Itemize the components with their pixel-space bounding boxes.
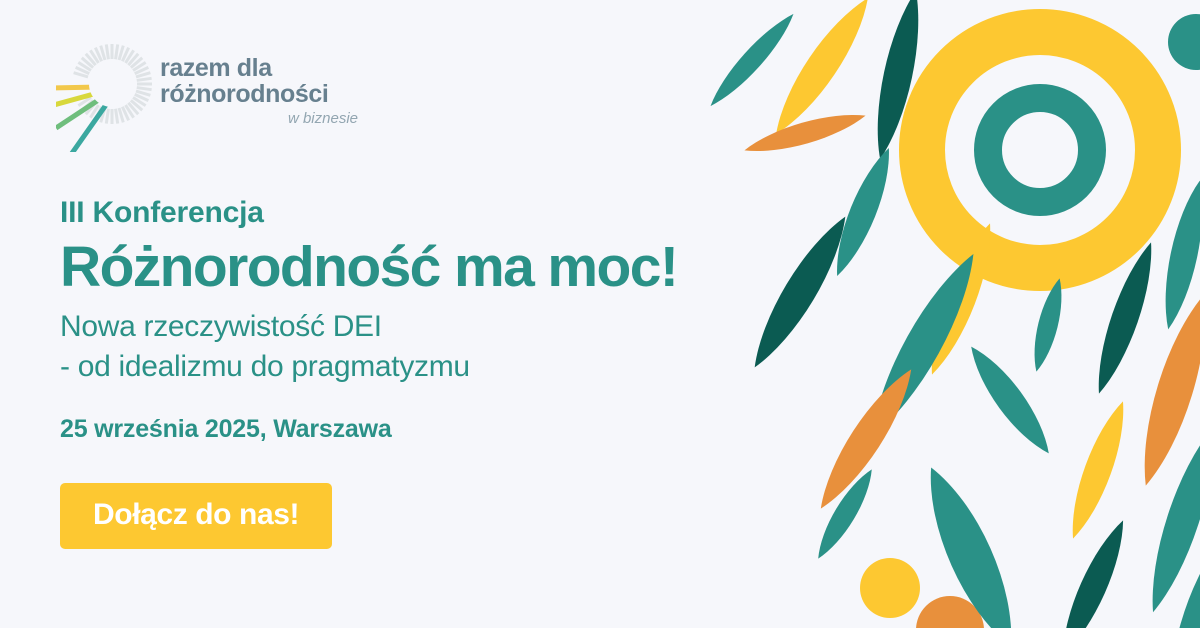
inner-ring bbox=[988, 98, 1092, 202]
leaf-shape bbox=[1027, 276, 1069, 374]
join-us-button[interactable]: Dołącz do nas! bbox=[60, 483, 332, 549]
teal-dot-edge bbox=[1168, 14, 1200, 70]
date-location-text: 25 września 2025, Warszawa bbox=[60, 415, 700, 444]
logo-inner-disc bbox=[89, 61, 135, 107]
leaf-shape bbox=[809, 464, 880, 564]
subtitle-line-2: - od idealizmu do pragmatyzmu bbox=[60, 347, 700, 387]
leaf-shape bbox=[1086, 238, 1163, 398]
conference-edition-label: III Konferencja bbox=[60, 196, 700, 231]
logo-ray-gray bbox=[137, 88, 152, 90]
leaf-foliage-pattern bbox=[680, 0, 1200, 628]
banner-copy: III Konferencja Różnorodność ma moc! Now… bbox=[60, 196, 700, 549]
outer-ring bbox=[922, 32, 1158, 268]
leaf-shape bbox=[703, 7, 800, 112]
leaf-shape bbox=[1061, 397, 1136, 543]
orange-dot-bottom bbox=[916, 596, 984, 628]
leaf-shape bbox=[857, 245, 989, 444]
brand-logo[interactable]: razem dla różnorodności w biznesie bbox=[56, 32, 356, 152]
logo-tagline: w biznesie bbox=[160, 110, 360, 127]
leaf-shape bbox=[960, 339, 1059, 461]
logo-line-2: różnorodności bbox=[160, 82, 360, 108]
logo-line-1: razem dla bbox=[160, 56, 360, 82]
logo-ray-gray bbox=[137, 78, 152, 80]
sunburst-circle-logo-icon bbox=[56, 32, 166, 152]
logo-ray-gray bbox=[106, 44, 108, 59]
leaf-shape bbox=[808, 361, 924, 517]
logo-ray-gray bbox=[116, 44, 118, 59]
leaf-shape bbox=[1129, 289, 1200, 491]
leaf-shape bbox=[1051, 515, 1135, 628]
leaf-shape bbox=[1156, 537, 1200, 628]
leaf-shape bbox=[742, 105, 869, 160]
leaf-shape bbox=[1155, 178, 1200, 332]
yellow-dot bbox=[860, 558, 920, 618]
leaf-shape bbox=[912, 459, 1031, 628]
page-title: Różnorodność ma moc! bbox=[60, 237, 700, 297]
leaf-shape bbox=[764, 0, 881, 142]
leaf-shape bbox=[825, 143, 901, 281]
leaf-shape bbox=[1138, 423, 1200, 617]
conference-banner: razem dla różnorodności w biznesie III K… bbox=[0, 0, 1200, 628]
subtitle: Nowa rzeczywistość DEI - od idealizmu do… bbox=[60, 307, 700, 387]
leaf-shape bbox=[741, 209, 858, 376]
subtitle-line-1: Nowa rzeczywistość DEI bbox=[60, 307, 700, 347]
leaf-shape bbox=[866, 0, 929, 162]
leaf-shape bbox=[918, 218, 1003, 380]
logo-wordmark: razem dla różnorodności w biznesie bbox=[160, 56, 360, 127]
logo-ray-gray bbox=[116, 109, 118, 124]
logo-ray-gray bbox=[106, 109, 108, 124]
